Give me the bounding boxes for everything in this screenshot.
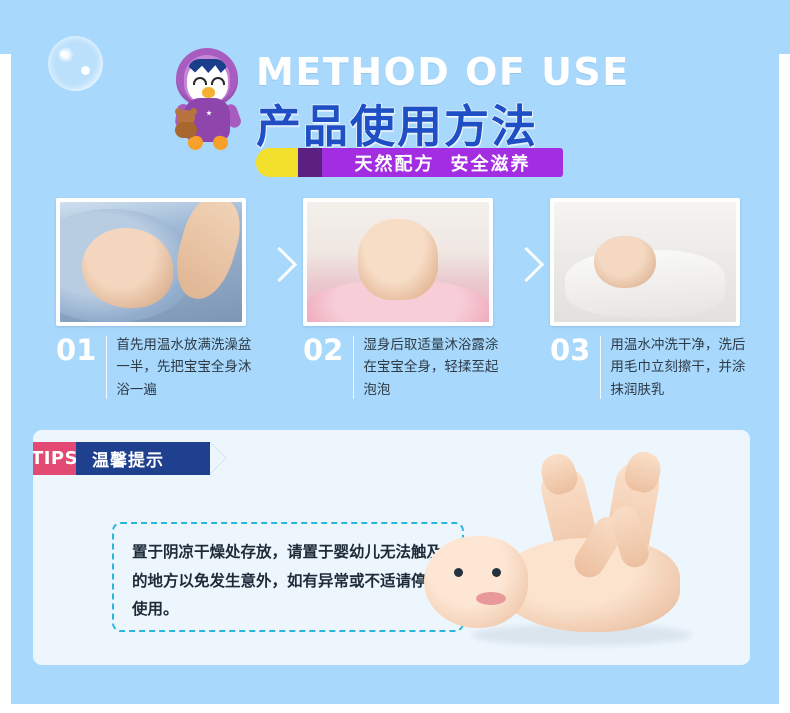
step-text-03: 用温水冲洗干净，洗后用毛巾立刻擦干，并涂抹润肤乳 [610, 334, 750, 401]
teddy-bear-icon [174, 110, 199, 138]
feature-badge: 天然配方 安全滋养 [256, 148, 563, 177]
step-card-01: 01 首先用温水放满洗澡盆一半，先把宝宝全身沐浴一遍 [56, 198, 246, 326]
title-chinese: 产品使用方法 [256, 90, 538, 155]
step-text-02: 湿身后取适量沐浴露涂在宝宝全身，轻揉至起泡泡 [363, 334, 503, 401]
step-caption-02: 02 湿身后取适量沐浴露涂在宝宝全身，轻揉至起泡泡 [303, 334, 503, 401]
step-divider [600, 336, 601, 399]
tips-note-text: 置于阴凉干燥处存放，请置于婴幼儿无法触及的地方以免发生意外，如有异常或不适请停止… [132, 538, 444, 624]
step-photo-02 [303, 198, 493, 326]
title-english: METHOD OF USE [256, 50, 630, 94]
step-caption-01: 01 首先用温水放满洗澡盆一半，先把宝宝全身沐浴一遍 [56, 334, 256, 401]
header: METHOD OF USE 产品使用方法 天然配方 安全滋养 [160, 40, 580, 190]
badge-text-right: 安全滋养 [451, 150, 531, 176]
tips-panel: TIPS 温馨提示 置于阴凉干燥处存放，请置于婴幼儿无法触及的地方以免发生意外，… [33, 430, 750, 665]
soap-bubble-icon [48, 36, 103, 91]
ribbon-notch-icon [210, 442, 226, 474]
badge-yellow-cap [256, 148, 298, 177]
tips-ribbon: TIPS 温馨提示 [33, 442, 226, 475]
badge-text-area: 天然配方 安全滋养 [322, 148, 563, 177]
step-text-01: 首先用温水放满洗澡盆一半，先把宝宝全身沐浴一遍 [116, 334, 256, 401]
badge-text-left: 天然配方 [355, 150, 435, 176]
step-photo-01 [56, 198, 246, 326]
step-card-02: 02 湿身后取适量沐浴露涂在宝宝全身，轻揉至起泡泡 [303, 198, 493, 326]
product-usage-infographic: METHOD OF USE 产品使用方法 天然配方 安全滋养 01 首先用温水放… [0, 0, 790, 713]
badge-dark-segment [298, 148, 322, 177]
tips-badge-label: TIPS [33, 442, 76, 475]
penguin-mascot-icon [166, 48, 252, 152]
step-caption-03: 03 用温水冲洗干净，洗后用毛巾立刻擦干，并涂抹润肤乳 [550, 334, 750, 401]
step-card-03: 03 用温水冲洗干净，洗后用毛巾立刻擦干，并涂抹润肤乳 [550, 198, 740, 326]
step-number-01: 01 [56, 336, 106, 365]
step-divider [106, 336, 107, 399]
tips-ribbon-label: 温馨提示 [76, 442, 210, 475]
step-number-02: 02 [303, 336, 353, 365]
step-photo-03 [550, 198, 740, 326]
tips-baby-photo [402, 452, 732, 657]
step-divider [353, 336, 354, 399]
step-number-03: 03 [550, 336, 600, 365]
